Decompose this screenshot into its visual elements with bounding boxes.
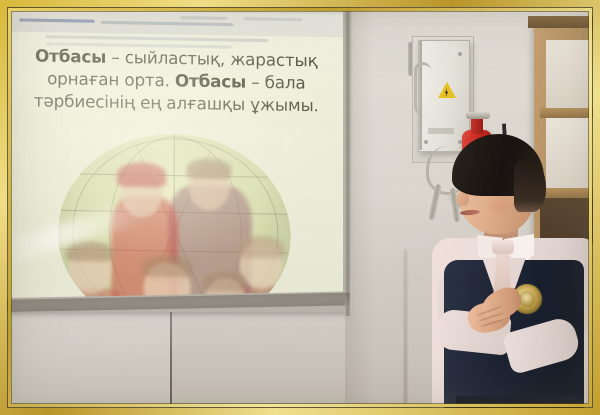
high-voltage-warning-icon bbox=[438, 82, 456, 98]
slide-keyword-1: Отбасы bbox=[35, 46, 106, 67]
bookshelf-divider bbox=[540, 108, 600, 118]
fire-extinguisher-handle bbox=[466, 112, 490, 119]
cheek bbox=[488, 198, 510, 214]
globe-shape bbox=[58, 132, 291, 300]
student-presenter bbox=[430, 134, 600, 415]
slide-text-line-2-start: орнаған орта. bbox=[47, 69, 175, 91]
wall-panel-seam bbox=[170, 312, 172, 415]
slide-text-line-3: тәрбиесінің ең алғашқы ұжымы. bbox=[17, 90, 335, 118]
family-figure-child-center-hair bbox=[142, 254, 193, 277]
wall-panel-left bbox=[0, 305, 172, 415]
bookshelf-top-cap bbox=[528, 16, 600, 28]
family-figure-father-hair bbox=[187, 158, 232, 179]
trousers bbox=[456, 396, 576, 415]
family-figure-child-right-hair bbox=[203, 271, 248, 291]
wall-panel-right bbox=[172, 305, 347, 415]
whiteboard-surface[interactable]: Отбасы – сыйластық, жарастық орнаған орт… bbox=[7, 9, 343, 300]
bookshelf-shelf-upper bbox=[546, 40, 600, 108]
panel-screw bbox=[458, 52, 462, 56]
slide-text-line-2-rest: – бала bbox=[246, 72, 305, 92]
family-figure-grandmother-hair bbox=[238, 235, 285, 258]
conduit-pipe bbox=[408, 42, 413, 76]
browser-menu-strip bbox=[244, 17, 303, 21]
projected-slide: Отбасы – сыйластық, жарастық орнаған орт… bbox=[7, 9, 343, 300]
photo-canvas: Отбасы – сыйластық, жарастық орнаған орт… bbox=[0, 0, 600, 415]
classroom-scene: Отбасы – сыйластық, жарастық орнаған орт… bbox=[0, 0, 600, 415]
browser-tab-strip bbox=[180, 16, 227, 20]
family-figure-child-left-hair bbox=[66, 241, 113, 262]
slide-text-block: Отбасы – сыйластық, жарастық орнаған орт… bbox=[17, 45, 335, 118]
conduit-bend bbox=[414, 62, 431, 115]
necktie-knot bbox=[492, 240, 514, 254]
slide-text-line-1-rest: – сыйластық, жарастық bbox=[106, 47, 317, 70]
hair-side-fade bbox=[514, 160, 546, 212]
wall-vertical-edge bbox=[404, 250, 407, 415]
interactive-whiteboard[interactable]: Отбасы – сыйластық, жарастық орнаған орт… bbox=[4, 6, 348, 312]
slide-keyword-2: Отбасы bbox=[175, 71, 246, 92]
browser-address-bar bbox=[101, 21, 234, 26]
family-globe-illustration bbox=[58, 132, 291, 300]
panel-screw bbox=[424, 140, 428, 144]
fire-extinguisher-neck bbox=[471, 118, 483, 134]
browser-link-bar bbox=[19, 18, 94, 22]
slide-header-rule bbox=[46, 35, 268, 42]
slide-body: Отбасы – сыйластық, жарастық орнаған орт… bbox=[11, 32, 343, 300]
family-figure-mother-hat bbox=[117, 162, 166, 187]
